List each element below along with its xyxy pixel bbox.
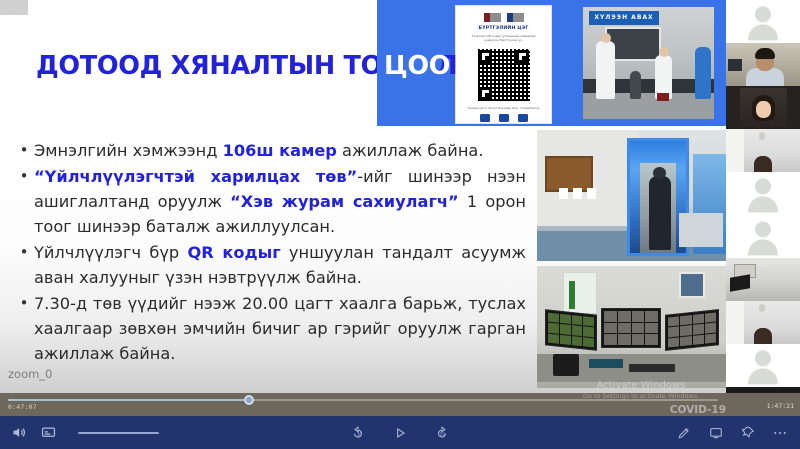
bullet-text: “Үйлчлүүлэгчтэй харилцах төв”-ийг шинээр… bbox=[34, 164, 526, 239]
avatar bbox=[743, 6, 783, 40]
participant-bright-room[interactable] bbox=[726, 301, 800, 344]
rewind-icon[interactable]: 10 bbox=[350, 425, 366, 441]
slide-bullet-list: •Эмнэлгийн хэмжээнд 106ш камер ажиллаж б… bbox=[14, 138, 526, 367]
participant-man-glasses[interactable] bbox=[726, 43, 800, 86]
cctv-monitor-right bbox=[665, 309, 719, 351]
qr-poster-figure: БҮРТГЭЛИЙН ЦЭГ Та доорх QR кодыг утасных… bbox=[455, 5, 552, 124]
staff-figure-1 bbox=[596, 41, 615, 99]
participant-avatar[interactable] bbox=[726, 172, 800, 215]
qr-eye-bottom-left bbox=[479, 87, 492, 100]
seek-bar-fill bbox=[8, 399, 249, 401]
elapsed-time: 0:47:07 bbox=[8, 403, 37, 411]
zoom-watermark: zoom_0 bbox=[8, 367, 52, 381]
total-time: 1:47:21 bbox=[767, 402, 794, 410]
reception-banner-text: ХҮЛЭЭН АВАХ bbox=[589, 11, 659, 25]
cctv-monitor-left bbox=[545, 309, 597, 350]
cctv-feed-grid bbox=[604, 311, 658, 345]
seek-bar-handle[interactable] bbox=[244, 395, 254, 405]
bullet-item-1: •Эмнэлгийн хэмжээнд 106ш камер ажиллаж б… bbox=[14, 138, 526, 163]
app-icon-1 bbox=[480, 114, 490, 122]
presentation-slide: БҮРТГЭЛИЙН ЦЭГ Та доорх QR кодыг утасных… bbox=[0, 0, 726, 393]
staff-boot bbox=[657, 93, 669, 101]
avatar bbox=[743, 221, 783, 255]
participant-avatar[interactable] bbox=[726, 344, 800, 387]
participant-avatar[interactable] bbox=[726, 215, 800, 258]
notice-paper bbox=[559, 188, 568, 199]
participant-white-room[interactable] bbox=[726, 129, 800, 172]
bullet-span: Үйлчлүүлэгч бүр bbox=[34, 243, 187, 262]
wall-picture bbox=[679, 272, 705, 298]
staff-head bbox=[601, 33, 611, 43]
control-bar-center: 10 10 bbox=[350, 416, 450, 449]
bullet-item-3: •Үйлчлүүлэгч бүр QR кодыг уншуулан танда… bbox=[14, 240, 526, 290]
qr-poster-heading: БҮРТГЭЛИЙН ЦЭГ bbox=[456, 26, 551, 31]
seek-area[interactable]: 0:47:07 bbox=[0, 393, 726, 416]
staff-figure-4 bbox=[695, 47, 711, 99]
staff-head bbox=[659, 47, 669, 57]
staff-figure-2 bbox=[655, 55, 672, 99]
bullet-text: 7.30-д төв үүдийг нээж 20.00 цагт хаалга… bbox=[34, 291, 526, 366]
qr-poster-app-icons bbox=[456, 114, 551, 122]
bullet-span: 7.30-д төв үүдийг нээж 20.00 цагт хаалга… bbox=[34, 294, 526, 363]
svg-text:10: 10 bbox=[357, 431, 363, 436]
logo-mark-left bbox=[484, 13, 501, 22]
screen-share-icon[interactable] bbox=[708, 425, 724, 441]
participant-filmstrip[interactable] bbox=[726, 0, 800, 393]
subtitles-icon[interactable] bbox=[40, 425, 56, 441]
back-button[interactable]: ‹ bbox=[0, 0, 28, 15]
notice-paper bbox=[587, 188, 596, 199]
bullet-marker: • bbox=[14, 164, 34, 189]
avatar bbox=[743, 350, 783, 384]
page-title-tail: ЦОО bbox=[384, 48, 450, 84]
hospital-reception-photo: ХҮЛЭЭН АВАХ bbox=[583, 7, 714, 119]
seek-area-right: 1:47:21 bbox=[726, 393, 800, 416]
check-in-desk bbox=[679, 213, 723, 247]
qr-eye-top-right bbox=[516, 50, 529, 63]
more-options-icon[interactable] bbox=[772, 425, 788, 441]
bullet-marker: • bbox=[14, 291, 34, 316]
play-icon[interactable] bbox=[392, 425, 408, 441]
bullet-text: Үйлчлүүлэгч бүр QR кодыг уншуулан тандал… bbox=[34, 240, 526, 290]
zoom-meeting-window: БҮРТГЭЛИЙН ЦЭГ Та доорх QR кодыг утасных… bbox=[0, 0, 800, 449]
reception-banner: ХҮЛЭЭН АВАХ bbox=[589, 11, 659, 25]
desk-phone bbox=[553, 354, 579, 376]
forward-icon[interactable]: 10 bbox=[434, 425, 450, 441]
bullet-span: Эмнэлгийн хэмжээнд bbox=[34, 141, 223, 160]
bullet-marker: • bbox=[14, 240, 34, 265]
notice-paper bbox=[573, 188, 582, 199]
pencil-icon[interactable] bbox=[676, 425, 692, 441]
pin-icon[interactable] bbox=[740, 425, 756, 441]
shared-screen-stage[interactable]: БҮРТГЭЛИЙН ЦЭГ Та доорх QR кодыг утасных… bbox=[0, 0, 726, 393]
bullet-emphasis: 106ш камер bbox=[223, 141, 337, 160]
cctv-control-room-photo bbox=[537, 266, 726, 388]
bullet-item-4: •7.30-д төв үүдийг нээж 20.00 цагт хаалг… bbox=[14, 291, 526, 366]
notice-board bbox=[545, 156, 593, 192]
logo-mark-right bbox=[507, 13, 524, 22]
qr-poster-footer: Танилцуулга: Эрүүл Мэндийн Яам · Улаанба… bbox=[456, 106, 551, 110]
bullet-span: ажиллаж байна. bbox=[337, 141, 484, 160]
disinfection-tunnel-photo bbox=[537, 130, 726, 261]
cctv-feed-grid bbox=[668, 312, 716, 347]
control-bar-right bbox=[676, 416, 788, 449]
bullet-emphasis: “Хэв журам сахиулагч” bbox=[230, 192, 459, 211]
bullet-emphasis: “Үйлчлүүлэгчтэй харилцах төв” bbox=[34, 167, 357, 186]
avatar bbox=[743, 178, 783, 212]
qr-code-image bbox=[477, 48, 531, 102]
speaker-icon[interactable] bbox=[10, 425, 26, 441]
seek-bar-track[interactable] bbox=[8, 399, 718, 401]
bullet-marker: • bbox=[14, 138, 34, 163]
participant-avatar[interactable] bbox=[726, 0, 800, 43]
bullet-item-2: •“Үйлчлүүлэгчтэй харилцах төв”-ийг шинээ… bbox=[14, 164, 526, 239]
cctv-feed-grid bbox=[548, 313, 594, 348]
cctv-monitor-center bbox=[601, 308, 661, 348]
keyboard bbox=[629, 364, 675, 372]
participant-desk-view[interactable] bbox=[726, 258, 800, 301]
room-signboard bbox=[563, 272, 597, 314]
participant-woman[interactable] bbox=[726, 86, 800, 129]
svg-text:10: 10 bbox=[440, 431, 446, 436]
person-entering bbox=[649, 176, 671, 250]
qr-poster-subtext: Та доорх QR кодыг утасныхаа камераар унш… bbox=[456, 34, 551, 43]
volume-slider[interactable] bbox=[78, 432, 159, 434]
control-bar-left bbox=[10, 416, 56, 449]
staff-figure-3 bbox=[630, 71, 641, 99]
app-icon-2 bbox=[499, 114, 509, 122]
player-control-bar: 10 10 bbox=[0, 416, 800, 449]
app-icon-3 bbox=[518, 114, 528, 122]
covid-label: COVID-19 bbox=[670, 404, 726, 416]
qr-eye-top-left bbox=[479, 50, 492, 63]
bullet-emphasis: QR кодыг bbox=[187, 243, 280, 262]
desk-mat bbox=[589, 359, 623, 368]
qr-poster-logos bbox=[456, 13, 551, 22]
bullet-text: Эмнэлгийн хэмжээнд 106ш камер ажиллаж ба… bbox=[34, 138, 526, 163]
